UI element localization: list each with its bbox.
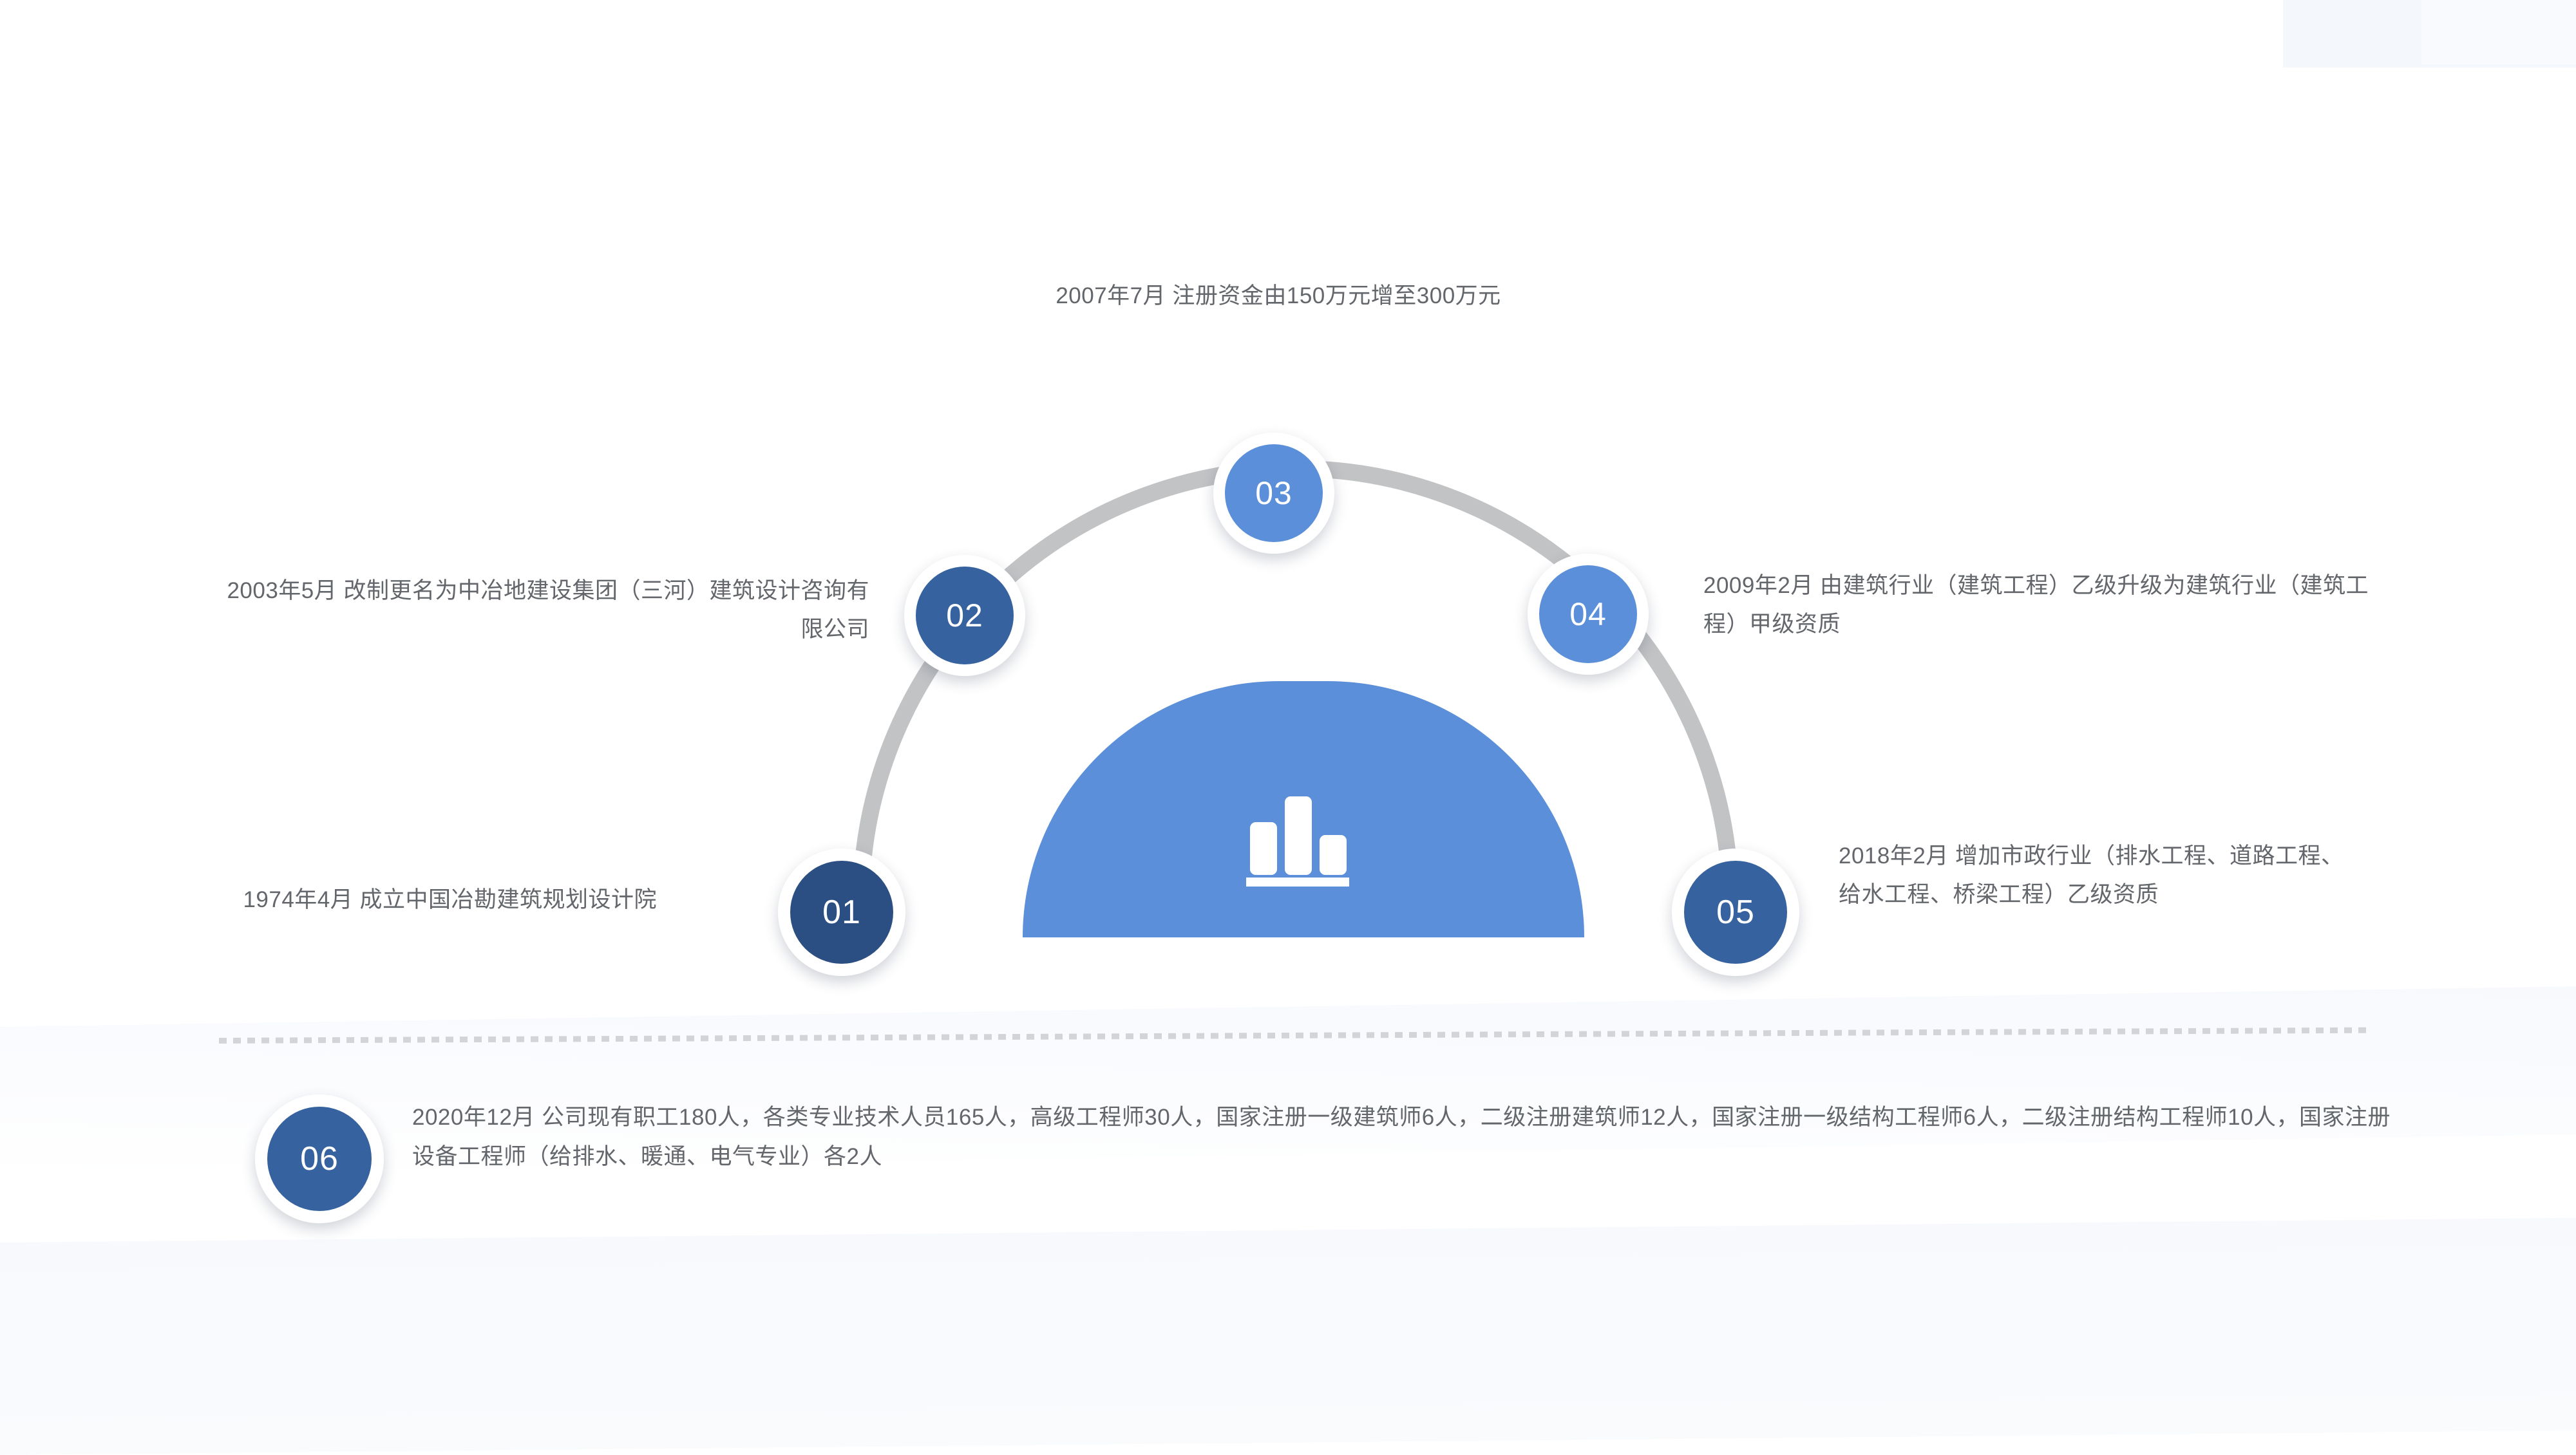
background-band-lower [0,1218,2576,1455]
milestone-text-03: 2007年7月 注册资金由150万元增至300万元 [979,277,1578,315]
milestone-badge-05-circle: 05 [1684,861,1787,964]
milestone-badge-04-circle: 04 [1539,565,1637,663]
milestone-text-02: 2003年5月 改制更名为中冶地建设集团（三河）建筑设计咨询有限公司 [213,572,869,649]
milestone-badge-04[interactable]: 04 [1528,554,1649,675]
milestone-badge-03[interactable]: 03 [1213,433,1334,554]
dotted-divider [219,1028,2370,1044]
bar-chart-icon [1246,789,1356,887]
milestone-badge-05[interactable]: 05 [1672,849,1799,976]
milestone-badge-01[interactable]: 01 [778,849,905,976]
milestone-badge-06[interactable]: 06 [255,1094,384,1223]
milestone-text-01: 1974年4月 成立中国冶勘建筑规划设计院 [232,881,657,919]
decorative-shape-top-right-a [2283,0,2576,68]
milestone-badge-03-circle: 03 [1225,444,1323,542]
milestone-badge-02[interactable]: 02 [904,555,1025,676]
milestone-badge-02-circle: 02 [916,567,1014,664]
milestone-text-04: 2009年2月 由建筑行业（建筑工程）乙级升级为建筑行业（建筑工程）甲级资质 [1703,567,2386,644]
milestone-text-05: 2018年2月 增加市政行业（排水工程、道路工程、给水工程、桥梁工程）乙级资质 [1839,837,2360,914]
milestone-badge-01-circle: 01 [790,861,893,964]
milestone-badge-06-circle: 06 [267,1107,372,1211]
decorative-shape-top-right-b [2421,0,2576,64]
milestone-text-06: 2020年12月 公司现有职工180人，各类专业技术人员165人，高级工程师30… [412,1098,2409,1176]
